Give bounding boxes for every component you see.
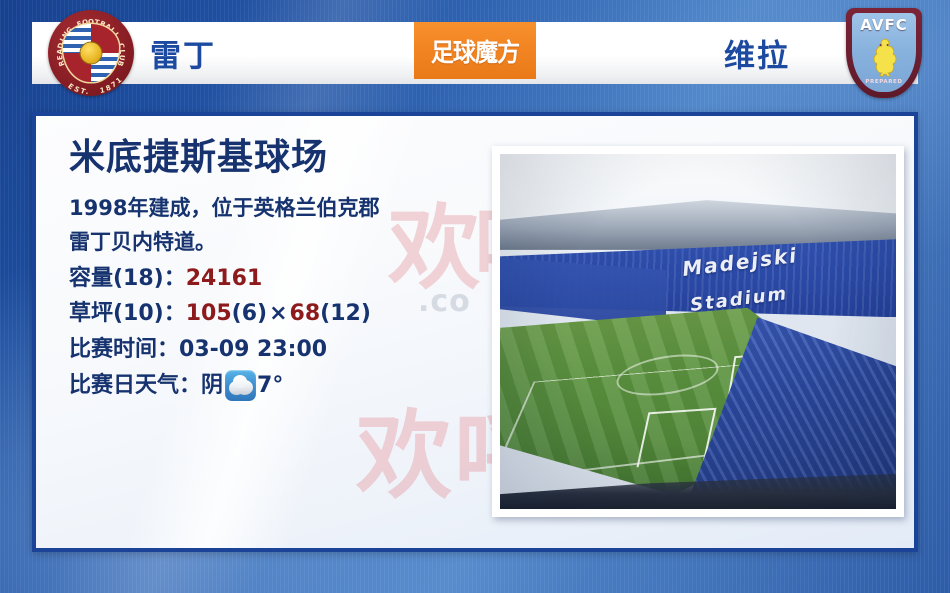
pitch-size-separator: ×	[267, 296, 289, 332]
pitch-length-rank: (6)	[232, 296, 267, 332]
lion-rampant-icon	[867, 37, 901, 77]
venue-title: 米底捷斯基球场	[69, 138, 499, 178]
capacity-row: 容量(18)： 24161	[69, 261, 499, 297]
capacity-value: 24161	[186, 261, 263, 297]
match-time-label: 比赛时间：	[69, 332, 179, 368]
crest-shield	[63, 24, 119, 82]
away-team-name: 维拉	[724, 31, 790, 76]
match-time-row: 比赛时间： 03-09 23:00	[69, 332, 499, 368]
crest-motto: PREPARED	[846, 79, 922, 85]
venue-description-line2: 雷丁贝内特道。	[69, 226, 499, 259]
stadium-photo: Madejski Stadium	[492, 146, 904, 517]
pitch-label: 草坪(10)：	[69, 296, 186, 332]
pitch-size-row: 草坪(10)： 105 (6) × 68 (12)	[69, 296, 499, 332]
match-weather-row: 比赛日天气： 阴 7°	[69, 368, 499, 404]
home-team-name: 雷丁	[150, 31, 216, 76]
crest-initials: AVFC	[846, 16, 922, 34]
venue-details: 米底捷斯基球场 1998年建成，位于英格兰伯克郡 雷丁贝内特道。 容量(18)：…	[69, 138, 499, 403]
weather-condition: 阴	[201, 368, 223, 404]
capacity-label: 容量(18)：	[69, 261, 186, 297]
match-header-bar: 足球魔方 雷丁 维拉	[32, 22, 918, 84]
weather-temperature: 7°	[257, 368, 283, 404]
pitch-length: 105	[186, 296, 232, 332]
pitch-width-rank: (12)	[320, 296, 371, 332]
match-time-value: 03-09 23:00	[179, 332, 327, 368]
reading-fc-crest-icon: READING FOOTBALL CLUBEST. 1871	[48, 10, 134, 96]
site-logo[interactable]: 足球魔方	[414, 22, 536, 79]
venue-description-line1: 1998年建成，位于英格兰伯克郡	[69, 192, 499, 225]
venue-info-panel: 欢呼 .co 欢呼 米底捷斯基球场 1998年建成，位于英格兰伯克郡 雷丁贝内特…	[32, 112, 918, 552]
weather-label: 比赛日天气：	[69, 368, 201, 404]
aston-villa-crest-icon: AVFC PREPARED	[846, 8, 922, 98]
match-venue-infographic: 足球魔方 雷丁 维拉 READING FOOTBALL CLUBEST. 187…	[0, 0, 950, 593]
pitch-width: 68	[290, 296, 321, 332]
cloudy-weather-icon	[225, 370, 256, 401]
site-logo-label: 足球魔方	[431, 33, 519, 69]
